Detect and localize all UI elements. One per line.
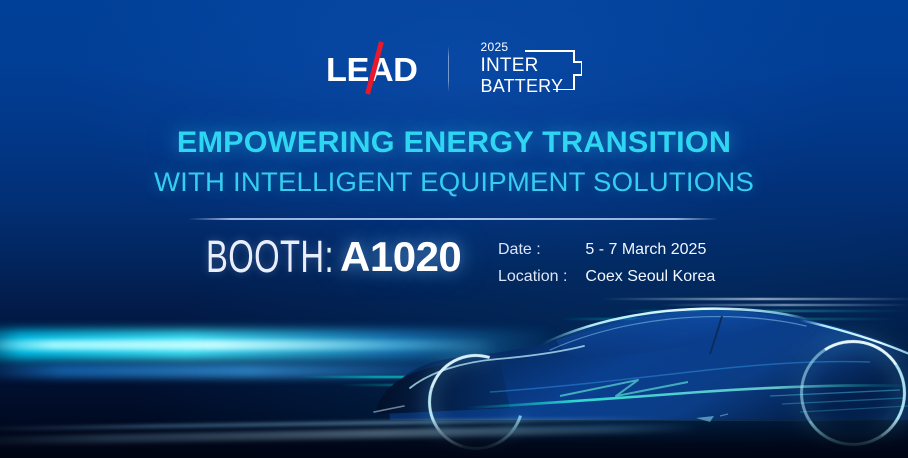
interbattery-line1: INTER xyxy=(481,56,539,75)
lead-logo: LEAD xyxy=(326,50,418,88)
section-divider xyxy=(188,218,718,220)
headline-secondary: WITH INTELLIGENT EQUIPMENT SOLUTIONS xyxy=(0,168,908,198)
date-label: Date : xyxy=(498,240,567,260)
interbattery-year: 2025 xyxy=(481,41,509,53)
interbattery-logo: 2025 INTER BATTERY xyxy=(479,41,583,97)
event-promo-banner: LEAD 2025 INTER BATTERY EMPOWERING ENERG… xyxy=(0,0,908,458)
date-value: 5 - 7 March 2025 xyxy=(585,240,715,260)
logo-row: LEAD 2025 INTER BATTERY xyxy=(0,40,908,98)
interbattery-line2: BATTERY xyxy=(481,77,564,95)
logo-separator xyxy=(448,46,449,92)
car-speed-scene xyxy=(0,258,908,458)
headline-primary: EMPOWERING ENERGY TRANSITION xyxy=(0,126,908,159)
